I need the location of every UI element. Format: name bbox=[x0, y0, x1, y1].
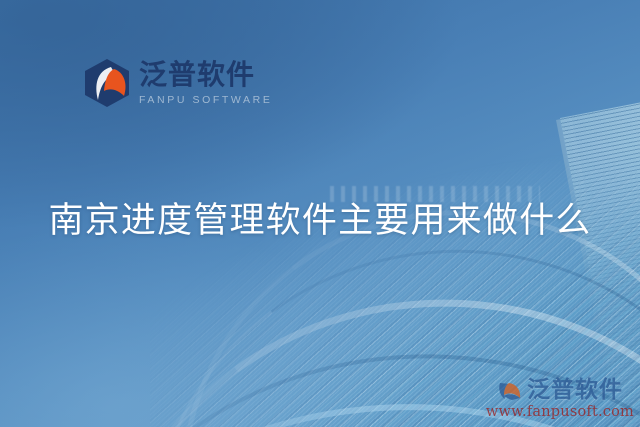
logo-company-name-cn: 泛普软件 bbox=[139, 60, 272, 90]
logo-company-name-en: FANPU SOFTWARE bbox=[139, 95, 272, 106]
watermark-url: www.fanpusoft.com bbox=[486, 405, 634, 420]
watermark-company-name: 泛普软件 bbox=[527, 379, 623, 402]
banner-image: 泛普软件 FANPU SOFTWARE 南京进度管理软件主要用来做什么 泛普软件… bbox=[0, 0, 640, 427]
watermark-logo-row: 泛普软件 bbox=[497, 379, 623, 402]
fanpu-hexagon-logo-icon bbox=[84, 58, 130, 108]
banner-headline: 南京进度管理软件主要用来做什么 bbox=[0, 192, 640, 243]
fanpu-logo: 泛普软件 FANPU SOFTWARE bbox=[84, 58, 272, 108]
logo-text-block: 泛普软件 FANPU SOFTWARE bbox=[139, 60, 272, 106]
fanpu-watermark-logo-icon bbox=[497, 380, 523, 400]
fanpu-watermark: 泛普软件 www.fanpusoft.com bbox=[486, 379, 634, 420]
